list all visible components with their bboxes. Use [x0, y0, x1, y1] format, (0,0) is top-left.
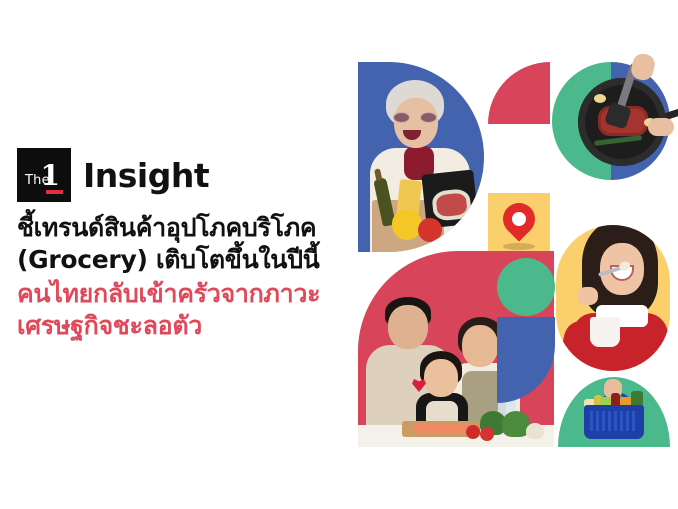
headline-line-1: ชี้เทรนด์สินค้าอุปโภคบริโภค: [17, 212, 347, 244]
brand-name: Insight: [83, 159, 209, 192]
subheadline-line-1: คนไทยกลับเข้าครัวจากภาวะ: [17, 278, 347, 310]
collage-tile-green-dot-accent: [497, 258, 555, 316]
subheadline: คนไทยกลับเข้าครัวจากภาวะ เศรษฐกิจชะลอตัว: [17, 278, 347, 342]
text-block: The 1 Insight ชี้เทรนด์สินค้าอุปโภคบริโภ…: [17, 148, 347, 342]
logo-one-text: 1: [41, 163, 60, 189]
collage-tile-red-quarter-accent: [488, 62, 550, 124]
pan-photo: [552, 62, 670, 180]
father-face: [388, 305, 428, 349]
tomato: [418, 218, 442, 242]
brand-lockup: The 1 Insight: [17, 148, 347, 202]
mother-face: [462, 325, 498, 367]
shopping-basket-icon: [584, 405, 644, 439]
yogurt-cup: [590, 317, 620, 347]
grandma-photo: [358, 62, 484, 252]
collage-tile-woman-yogurt: [556, 225, 670, 371]
woman-hand: [578, 287, 598, 305]
garlic-clove: [594, 94, 606, 103]
image-collage: [352, 55, 670, 451]
grandma-face: [394, 98, 438, 148]
the1-logo-icon: The 1: [17, 148, 71, 202]
basket-photo: [558, 377, 670, 447]
collage-tile-grandma-groceries: [358, 62, 484, 252]
tomato: [480, 427, 494, 441]
headline-line-2: (Grocery) เติบโตขึ้นในปีนี้: [17, 244, 347, 276]
map-pin-icon: [496, 196, 541, 241]
logo-underline: [46, 190, 63, 194]
hand: [648, 118, 674, 136]
collage-tile-shopping-basket: [558, 377, 670, 447]
subheadline-line-2: เศรษฐกิจชะลอตัว: [17, 310, 347, 342]
sunglasses-icon: [393, 112, 437, 123]
pin-shadow: [503, 243, 535, 250]
collage-tile-pan-steak: [552, 62, 670, 180]
yogurt-woman-photo: [556, 225, 670, 371]
tomato: [466, 425, 480, 439]
salmon-fillet: [414, 423, 470, 433]
child-face: [424, 359, 458, 397]
yellow-bell-pepper: [392, 210, 422, 240]
garlic-bulb: [526, 423, 544, 439]
insight-promo-card: The 1 Insight ชี้เทรนด์สินค้าอุปโภคบริโภ…: [0, 0, 678, 509]
headline: ชี้เทรนด์สินค้าอุปโภคบริโภค (Grocery) เต…: [17, 212, 347, 276]
